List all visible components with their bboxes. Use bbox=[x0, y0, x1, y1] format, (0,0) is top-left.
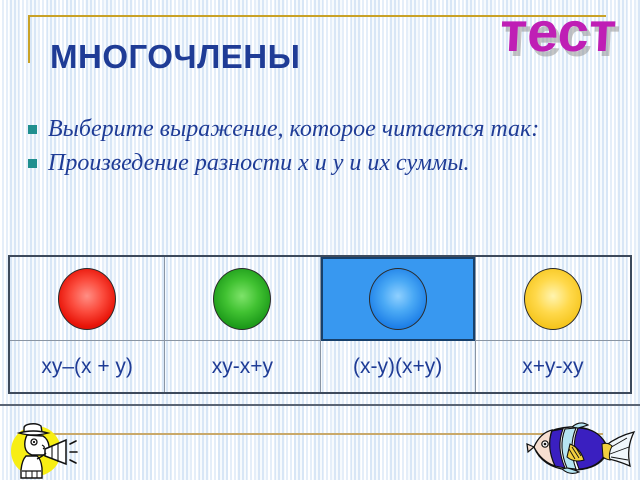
answer-option-c[interactable]: (x-y)(x+y) bbox=[321, 257, 476, 392]
answer-option-a[interactable]: xy–(x + y) bbox=[10, 257, 165, 392]
answer-formula-c: (x-y)(x+y) bbox=[353, 355, 442, 379]
answer-marker-cell-b[interactable] bbox=[165, 257, 319, 341]
bullet-text: Выберите выражение, которое читается так… bbox=[48, 115, 539, 143]
answer-option-b[interactable]: xy-x+y bbox=[165, 257, 320, 392]
square-bullet-icon bbox=[28, 159, 37, 168]
answer-formula-a: xy–(x + y) bbox=[41, 355, 133, 379]
question-bullet-list: Выберите выражение, которое читается так… bbox=[28, 115, 588, 184]
top-gold-rule-vertical bbox=[28, 15, 30, 63]
list-item: Произведение разности x и y и их суммы. bbox=[28, 149, 588, 177]
slide-canvas: МНОГОЧЛЕНЫ тест Выберите выражение, кото… bbox=[0, 0, 640, 480]
answer-label-cell-a[interactable]: xy–(x + y) bbox=[10, 341, 164, 392]
answer-formula-b: xy-x+y bbox=[212, 355, 273, 379]
test-wordart: тест bbox=[498, 4, 617, 60]
answer-label-cell-d[interactable]: x+y-xy bbox=[476, 341, 630, 392]
answer-options-table: xy–(x + y) xy-x+y (x-y)(x+y) x+y bbox=[8, 255, 632, 394]
bullet-text: Произведение разности x и y и их суммы. bbox=[48, 149, 469, 177]
answer-label-cell-c[interactable]: (x-y)(x+y) bbox=[321, 341, 475, 392]
answer-marker-cell-a[interactable] bbox=[10, 257, 164, 341]
list-item: Выберите выражение, которое читается так… bbox=[28, 115, 588, 143]
answer-label-cell-b[interactable]: xy-x+y bbox=[165, 341, 319, 392]
blue-circle-icon[interactable] bbox=[369, 268, 427, 330]
answer-marker-cell-d[interactable] bbox=[476, 257, 630, 341]
green-circle-icon[interactable] bbox=[213, 268, 271, 330]
yellow-circle-icon[interactable] bbox=[524, 268, 582, 330]
tropical-fish-icon bbox=[522, 416, 638, 478]
page-title: МНОГОЧЛЕНЫ bbox=[50, 38, 300, 76]
bottom-gold-line bbox=[38, 433, 603, 435]
bottom-divider-rule bbox=[0, 404, 640, 406]
megaphone-man-icon bbox=[8, 418, 94, 480]
red-circle-icon[interactable] bbox=[58, 268, 116, 330]
square-bullet-icon bbox=[28, 125, 37, 134]
answer-option-d[interactable]: x+y-xy bbox=[476, 257, 630, 392]
answer-formula-d: x+y-xy bbox=[522, 355, 583, 379]
answer-marker-cell-c-selected[interactable] bbox=[321, 257, 475, 341]
